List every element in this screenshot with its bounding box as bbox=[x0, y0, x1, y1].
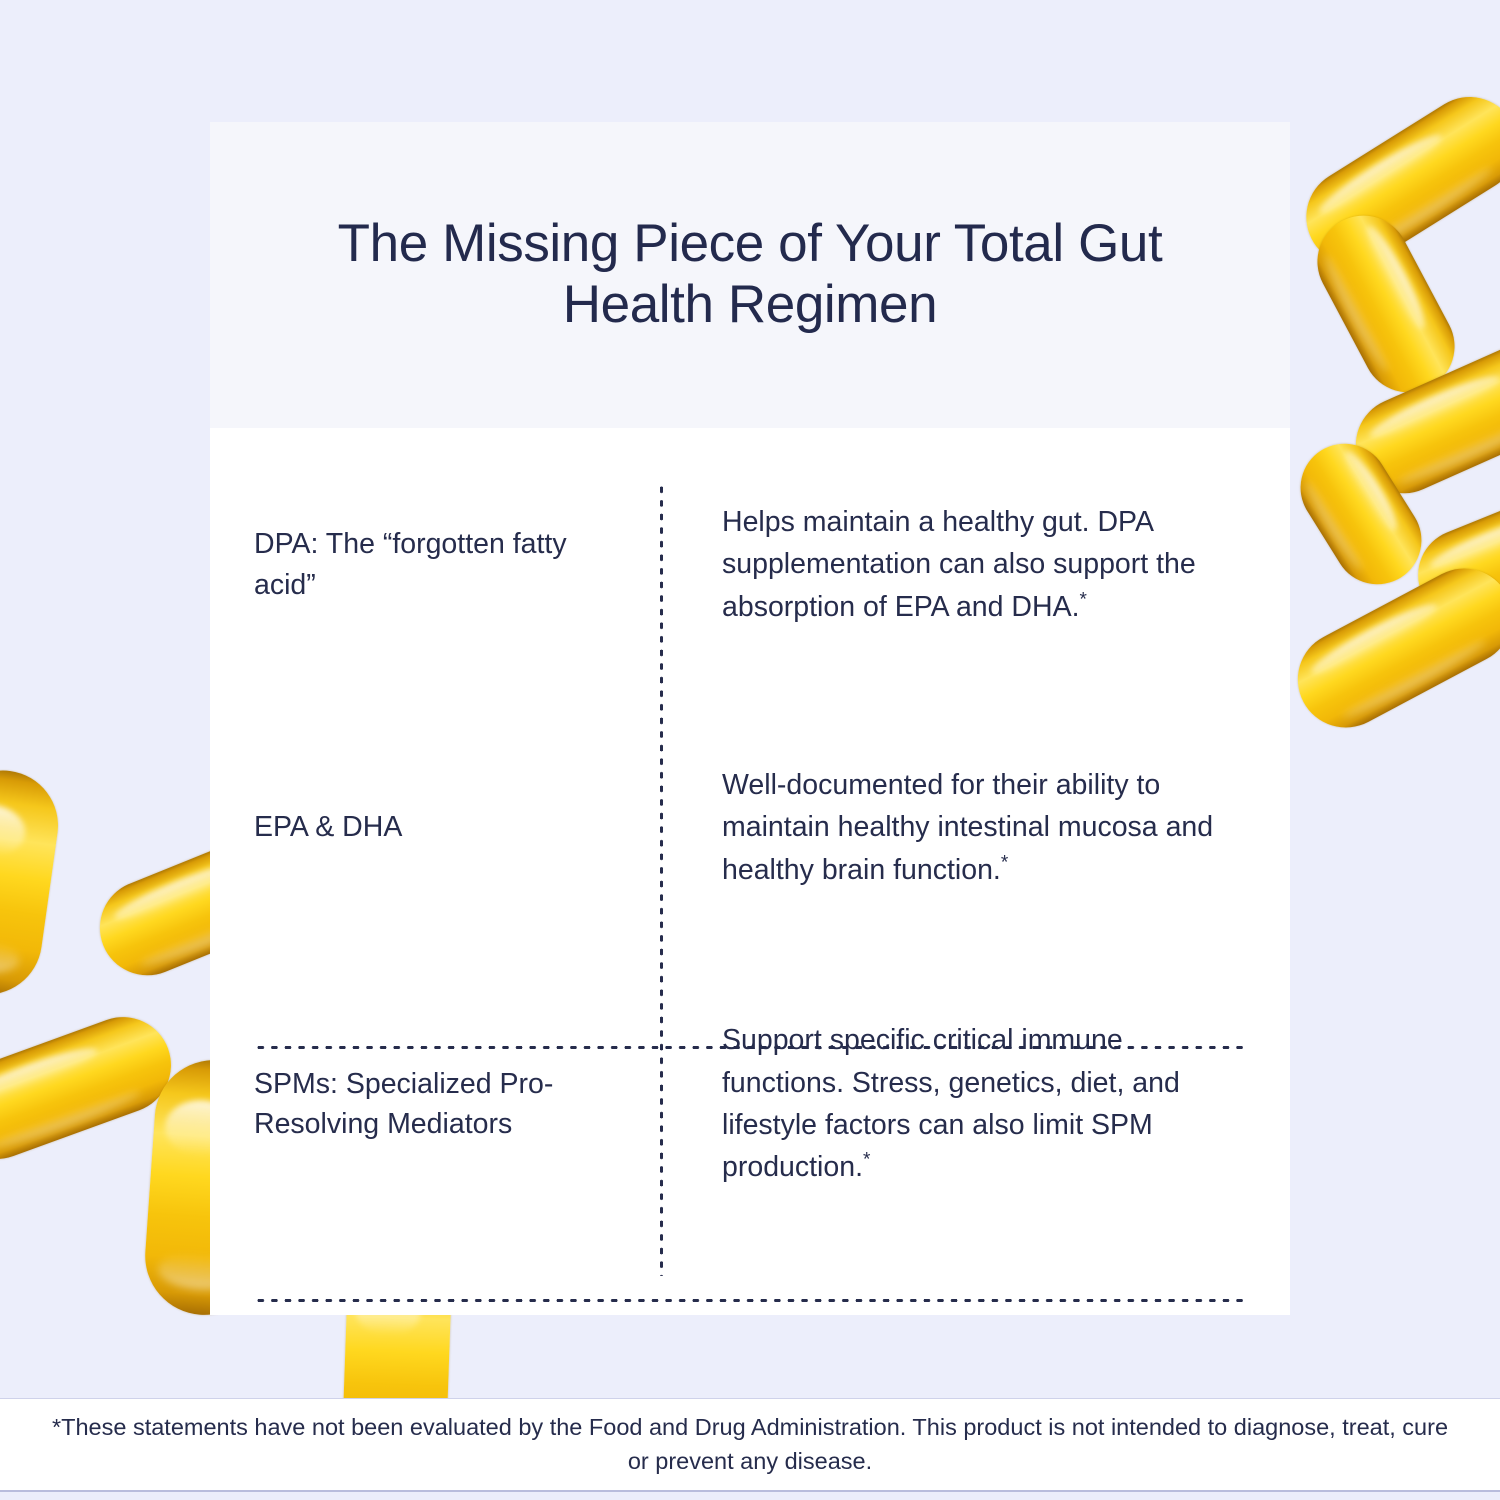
table-row: EPA & DHA Well-documented for their abil… bbox=[210, 701, 1290, 954]
table-row: SPMs: Specialized Pro-Resolving Mediator… bbox=[210, 954, 1290, 1254]
description-text: Support specific critical immune functio… bbox=[722, 1019, 1250, 1189]
table-cell-term: DPA: The “forgotten fatty acid” bbox=[210, 428, 660, 701]
table-cell-term: SPMs: Specialized Pro-Resolving Mediator… bbox=[210, 954, 660, 1254]
row-divider-2 bbox=[254, 1299, 1246, 1302]
info-card: The Missing Piece of Your Total Gut Heal… bbox=[210, 122, 1290, 1315]
table-cell-description: Helps maintain a healthy gut. DPA supple… bbox=[660, 428, 1290, 701]
table-row: DPA: The “forgotten fatty acid” Helps ma… bbox=[210, 428, 1290, 701]
description-body: Helps maintain a healthy gut. DPA supple… bbox=[722, 506, 1196, 623]
row-divider-1 bbox=[254, 1046, 1246, 1049]
vertical-dotted-divider bbox=[660, 483, 663, 1276]
table-cell-description: Support specific critical immune functio… bbox=[660, 954, 1290, 1254]
table-cell-term: EPA & DHA bbox=[210, 701, 660, 954]
description-text: Well-documented for their ability to mai… bbox=[722, 764, 1250, 891]
page-title: The Missing Piece of Your Total Gut Heal… bbox=[256, 214, 1244, 336]
term-label: DPA: The “forgotten fatty acid” bbox=[254, 524, 620, 605]
term-label: EPA & DHA bbox=[254, 807, 402, 847]
footnote-marker: * bbox=[1080, 589, 1087, 610]
footnote-marker: * bbox=[1001, 852, 1008, 873]
description-body: Well-documented for their ability to mai… bbox=[722, 769, 1213, 886]
footnote-marker: * bbox=[863, 1150, 870, 1171]
benefits-table: DPA: The “forgotten fatty acid” Helps ma… bbox=[210, 428, 1290, 1315]
card-header: The Missing Piece of Your Total Gut Heal… bbox=[210, 122, 1290, 428]
softgel-capsule bbox=[0, 763, 65, 1001]
table-cell-description: Well-documented for their ability to mai… bbox=[660, 701, 1290, 954]
term-label: SPMs: Specialized Pro-Resolving Mediator… bbox=[254, 1064, 620, 1145]
disclaimer-bar: *These statements have not been evaluate… bbox=[0, 1398, 1500, 1492]
disclaimer-text: *These statements have not been evaluate… bbox=[50, 1411, 1450, 1478]
description-text: Helps maintain a healthy gut. DPA supple… bbox=[722, 501, 1250, 628]
